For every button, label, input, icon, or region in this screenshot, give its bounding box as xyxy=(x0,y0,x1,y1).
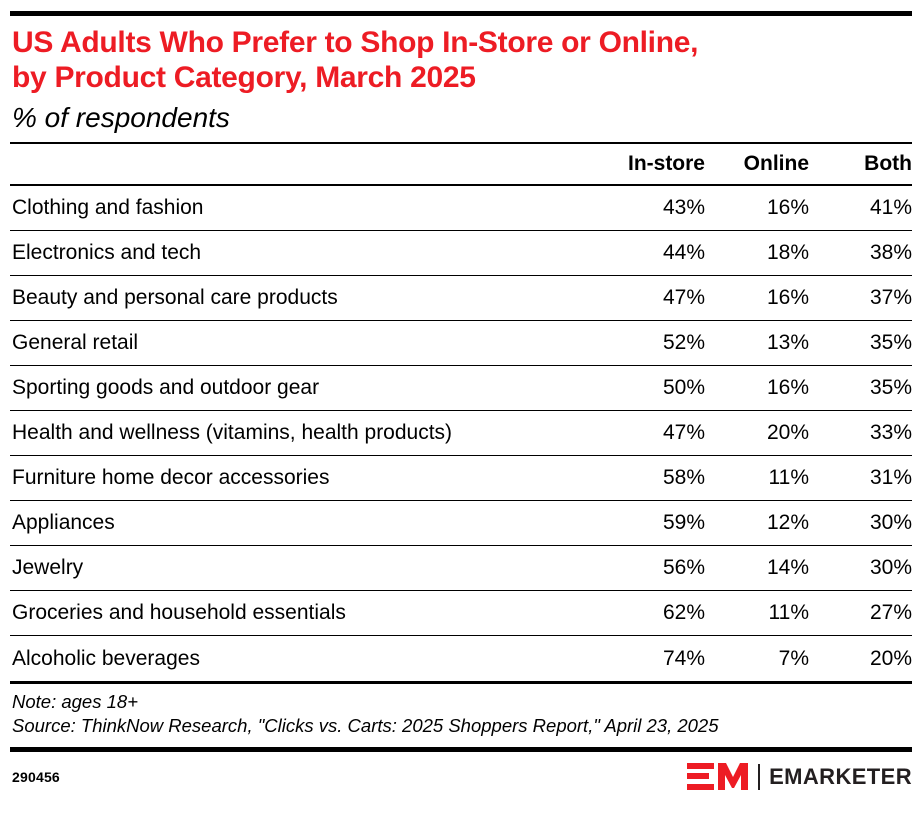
cell-in-store: 47% xyxy=(581,411,705,456)
row-label: Groceries and household essentials xyxy=(10,591,581,636)
cell-both: 35% xyxy=(809,366,912,411)
cell-online: 13% xyxy=(705,321,809,366)
cell-online: 14% xyxy=(705,546,809,591)
row-label: Furniture home decor accessories xyxy=(10,456,581,501)
table-row: Jewelry 56% 14% 30% xyxy=(10,546,912,591)
cell-in-store: 44% xyxy=(581,231,705,276)
page-subtitle: % of respondents xyxy=(10,102,912,134)
table-row: General retail 52% 13% 35% xyxy=(10,321,912,366)
table-row: Clothing and fashion 43% 16% 41% xyxy=(10,186,912,231)
page-title-line-2: by Product Category, March 2025 xyxy=(12,60,912,95)
cell-online: 11% xyxy=(705,591,809,636)
row-label: Health and wellness (vitamins, health pr… xyxy=(10,411,581,456)
table-header-row: In-store Online Both xyxy=(10,144,912,184)
cell-in-store: 50% xyxy=(581,366,705,411)
footer: 290456 EMARKETER xyxy=(10,752,912,792)
cell-online: 16% xyxy=(705,276,809,321)
table-head: In-store Online Both xyxy=(10,144,912,184)
data-table-body: Clothing and fashion 43% 16% 41% Electro… xyxy=(10,186,912,681)
row-label: Alcoholic beverages xyxy=(10,636,581,681)
cell-in-store: 58% xyxy=(581,456,705,501)
table-row: Beauty and personal care products 47% 16… xyxy=(10,276,912,321)
cell-in-store: 62% xyxy=(581,591,705,636)
table-row: Groceries and household essentials 62% 1… xyxy=(10,591,912,636)
page-title: US Adults Who Prefer to Shop In-Store or… xyxy=(10,25,912,96)
cell-in-store: 47% xyxy=(581,276,705,321)
chart-id: 290456 xyxy=(12,769,60,785)
row-label: Beauty and personal care products xyxy=(10,276,581,321)
column-header-online: Online xyxy=(705,144,809,184)
column-header-both: Both xyxy=(809,144,912,184)
cell-in-store: 56% xyxy=(581,546,705,591)
cell-in-store: 74% xyxy=(581,636,705,681)
cell-both: 30% xyxy=(809,546,912,591)
logo-wordmark: EMARKETER xyxy=(769,764,912,790)
source-text: Source: ThinkNow Research, "Clicks vs. C… xyxy=(12,714,912,738)
row-label: Clothing and fashion xyxy=(10,186,581,231)
cell-online: 16% xyxy=(705,186,809,231)
cell-both: 30% xyxy=(809,501,912,546)
cell-online: 12% xyxy=(705,501,809,546)
table-row: Electronics and tech 44% 18% 38% xyxy=(10,231,912,276)
cell-in-store: 43% xyxy=(581,186,705,231)
cell-both: 38% xyxy=(809,231,912,276)
cell-online: 16% xyxy=(705,366,809,411)
table-row: Appliances 59% 12% 30% xyxy=(10,501,912,546)
cell-both: 20% xyxy=(809,636,912,681)
logo-divider xyxy=(758,764,760,790)
cell-both: 31% xyxy=(809,456,912,501)
cell-both: 35% xyxy=(809,321,912,366)
data-table: In-store Online Both xyxy=(10,144,912,184)
table-row: Health and wellness (vitamins, health pr… xyxy=(10,411,912,456)
cell-both: 27% xyxy=(809,591,912,636)
cell-in-store: 52% xyxy=(581,321,705,366)
table-body: Clothing and fashion 43% 16% 41% Electro… xyxy=(10,186,912,681)
table-row: Alcoholic beverages 74% 7% 20% xyxy=(10,636,912,681)
emarketer-logo: EMARKETER xyxy=(687,762,912,792)
cell-both: 37% xyxy=(809,276,912,321)
column-header-category xyxy=(10,144,581,184)
top-rule xyxy=(10,11,912,16)
cell-online: 11% xyxy=(705,456,809,501)
chart-page: US Adults Who Prefer to Shop In-Store or… xyxy=(0,11,922,817)
table-row: Furniture home decor accessories 58% 11%… xyxy=(10,456,912,501)
row-label: Sporting goods and outdoor gear xyxy=(10,366,581,411)
row-label: Appliances xyxy=(10,501,581,546)
em-monogram-icon xyxy=(687,762,749,792)
cell-online: 7% xyxy=(705,636,809,681)
cell-both: 33% xyxy=(809,411,912,456)
row-label: Electronics and tech xyxy=(10,231,581,276)
cell-both: 41% xyxy=(809,186,912,231)
row-label: General retail xyxy=(10,321,581,366)
cell-online: 20% xyxy=(705,411,809,456)
cell-online: 18% xyxy=(705,231,809,276)
note-text: Note: ages 18+ xyxy=(12,690,912,714)
table-row: Sporting goods and outdoor gear 50% 16% … xyxy=(10,366,912,411)
footnotes: Note: ages 18+ Source: ThinkNow Research… xyxy=(10,684,912,739)
cell-in-store: 59% xyxy=(581,501,705,546)
page-title-line-1: US Adults Who Prefer to Shop In-Store or… xyxy=(12,25,912,60)
row-label: Jewelry xyxy=(10,546,581,591)
column-header-in-store: In-store xyxy=(581,144,705,184)
